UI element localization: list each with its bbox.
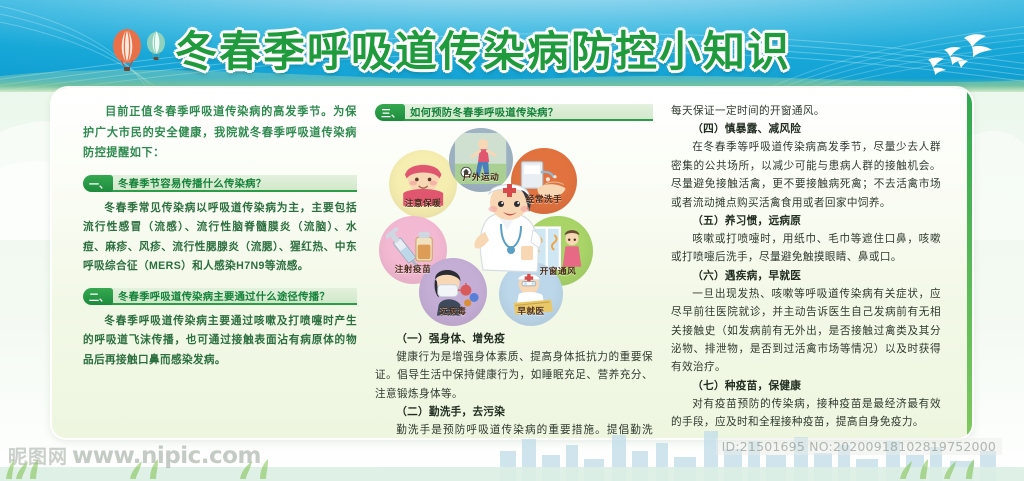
tip-head: （四）慎暴露、减风险 bbox=[671, 120, 941, 138]
right-column: 每天保证一定时间的开窗通风。 （四）慎暴露、减风险 在冬春季等呼吸道传染病高发季… bbox=[662, 102, 950, 432]
section-title-2: 冬春季呼吸道传染病主要通过什么途径传播？ bbox=[106, 288, 330, 303]
tip-body: 健康行为是增强身体素质、提高身体抵抗力的重要保证。倡导生活中保持健康行为，如睡眠… bbox=[375, 348, 653, 403]
section-header-2: 二、 冬春季呼吸道传染病主要通过什么途径传播？ bbox=[83, 288, 357, 305]
section-header-1: 一、 冬春季节容易传播什么传染病？ bbox=[83, 175, 357, 192]
section-title-3: 如何预防冬春季呼吸道传染病？ bbox=[398, 104, 558, 119]
tip-head: （二）勤洗手，去污染 bbox=[375, 403, 653, 421]
section-number-1: 一、 bbox=[83, 175, 113, 192]
content-card: 目前正值冬春季呼吸道传染病的高发季节。为保护广大市民的安全健康，我院就冬春季呼吸… bbox=[52, 88, 972, 438]
tip-body: 在冬春季等呼吸道传染病高发季节，尽量少去人群密集的公共场所，以减少可能与患病人群… bbox=[671, 138, 941, 212]
section-title-strip-3: 如何预防冬春季呼吸道传染病？ bbox=[398, 104, 653, 121]
section-header-3: 三、 如何预防冬春季呼吸道传染病？ bbox=[375, 104, 653, 121]
section-body-2: 冬春季呼吸道传染病主要通过咳嗽及打喷嚏时产生的呼吸道飞沫传播，也可通过接触表面沾… bbox=[83, 312, 357, 371]
bubble-label: 注射疫苗 bbox=[395, 263, 431, 275]
header-banner: 冬春季呼吸道传染病防控小知识 bbox=[0, 0, 1024, 92]
section-number-2: 二、 bbox=[83, 288, 113, 305]
bubble-label: 经常洗手 bbox=[526, 193, 562, 205]
section-title-1: 冬春季节容易传播什么传染病？ bbox=[106, 175, 266, 190]
bubble-keep-warm: 注意保暖 bbox=[389, 150, 457, 218]
continued-text: 每天保证一定时间的开窗通风。 bbox=[671, 102, 941, 120]
bubble-label: 早就医 bbox=[517, 305, 544, 317]
prevention-illustration: 注意保暖 户外运 bbox=[371, 128, 651, 326]
tip-head: （七）种疫苗，保健康 bbox=[671, 377, 941, 395]
nipic-watermark-url: www.nipic.com bbox=[72, 443, 261, 469]
section-body-1: 冬春季常见传染病以呼吸道传染病为主，主要包括流行性感冒（流感）、流行性脑脊髓膜炎… bbox=[83, 199, 357, 277]
poster-root: 冬春季呼吸道传染病防控小知识 目前正值冬春季呼吸道传染病的高发季节。为保护广大市… bbox=[0, 0, 1024, 481]
tip-head: （一）强身体、增免疫 bbox=[375, 330, 653, 348]
hot-air-balloon-icon bbox=[105, 26, 175, 74]
flying-doves-icon bbox=[914, 30, 1006, 80]
bubble-label: 远病毒 bbox=[439, 305, 466, 317]
middle-column: 三、 如何预防冬春季呼吸道传染病？ bbox=[366, 102, 662, 432]
section-title-strip-2: 冬春季呼吸道传染病主要通过什么途径传播？ bbox=[106, 288, 357, 305]
nipic-watermark: 昵图网 www.nipic.com bbox=[8, 442, 261, 469]
tip-head: （六）遇疾病，早就医 bbox=[671, 267, 941, 285]
left-column: 目前正值冬春季呼吸道传染病的高发季节。为保护广大市民的安全健康，我院就冬春季呼吸… bbox=[74, 102, 366, 432]
section-title-strip-1: 冬春季节容易传播什么传染病？ bbox=[106, 175, 357, 192]
bubble-label: 开窗通风 bbox=[540, 265, 576, 277]
bubble-label: 注意保暖 bbox=[405, 197, 441, 209]
id-watermark: ID:21501695 NO:20200918102819752000 bbox=[716, 438, 1002, 455]
bubble-label: 户外运动 bbox=[463, 171, 499, 183]
intro-paragraph: 目前正值冬春季呼吸道传染病的高发季节。为保护广大市民的安全健康，我院就冬春季呼吸… bbox=[83, 102, 357, 164]
tip-head: （五）养习惯，远病原 bbox=[671, 212, 941, 230]
nipic-watermark-cn: 昵图网 bbox=[8, 442, 68, 469]
tip-body: 咳嗽或打喷嚏时，用纸巾、毛巾等遮住口鼻，咳嗽或打喷嚏后洗手，尽量避免触摸眼睛、鼻… bbox=[671, 230, 941, 267]
section-number-3: 三、 bbox=[375, 104, 405, 121]
tip-body: 一旦出现发热、咳嗽等呼吸道传染病有关症状，应尽早前往医院就诊，并主动告诉医生自己… bbox=[671, 285, 941, 377]
page-title: 冬春季呼吸道传染病防控小知识 bbox=[175, 18, 791, 79]
